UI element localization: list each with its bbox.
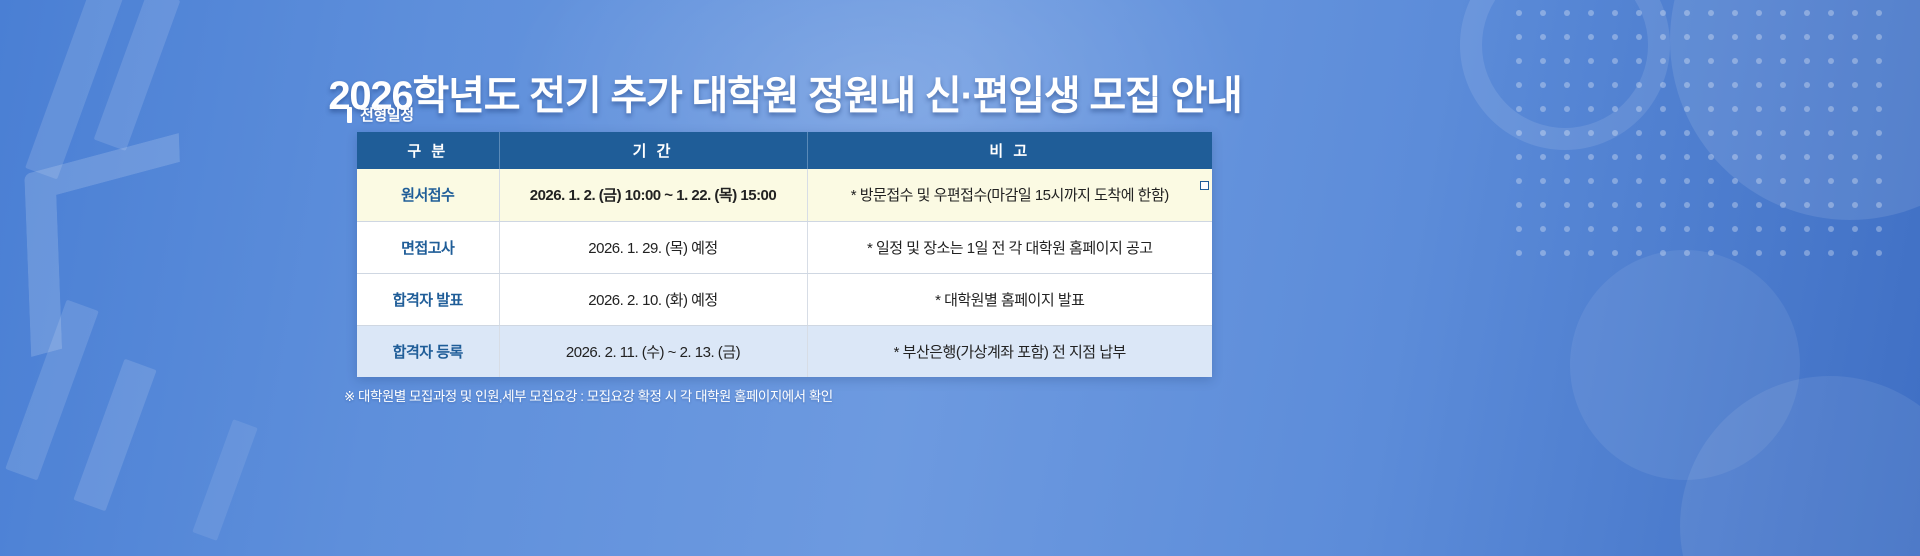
column-header-division: 구 분 (357, 132, 499, 169)
column-header-period: 기 간 (499, 132, 807, 169)
cell-period: 2026. 1. 29. (목) 예정 (499, 221, 807, 273)
table-row: 합격자 등록 2026. 2. 11. (수) ~ 2. 13. (금) * 부… (357, 325, 1212, 377)
schedule-table: 구 분 기 간 비 고 원서접수 2026. 1. 2. (금) 10:00 ~… (357, 132, 1212, 377)
schedule-table-body: 원서접수 2026. 1. 2. (금) 10:00 ~ 1. 22. (목) … (357, 169, 1212, 377)
admission-banner: 2026학년도 전기 추가 대학원 정원내 신·편입생 모집 안내 전형일정 구… (0, 0, 1920, 556)
cell-division: 합격자 등록 (357, 325, 499, 377)
cell-period: 2026. 2. 11. (수) ~ 2. 13. (금) (499, 325, 807, 377)
cell-division: 원서접수 (357, 169, 499, 221)
section-label-text: 전형일정 (360, 104, 414, 125)
footnote: ※ 대학원별 모집과정 및 인원,세부 모집요강 : 모집요강 확정 시 각 대… (344, 385, 833, 405)
table-row: 면접고사 2026. 1. 29. (목) 예정 * 일정 및 장소는 1일 전… (357, 221, 1212, 273)
cell-note: * 대학원별 홈페이지 발표 (807, 273, 1212, 325)
cell-period: 2026. 2. 10. (화) 예정 (499, 273, 807, 325)
table-header-row: 구 분 기 간 비 고 (357, 132, 1212, 169)
schedule-table-head: 구 분 기 간 비 고 (357, 132, 1212, 169)
cell-period: 2026. 1. 2. (금) 10:00 ~ 1. 22. (목) 15:00 (499, 169, 807, 221)
cell-note: * 부산은행(가상계좌 포함) 전 지점 납부 (807, 325, 1212, 377)
section-label: 전형일정 (347, 104, 414, 125)
table-row: 원서접수 2026. 1. 2. (금) 10:00 ~ 1. 22. (목) … (357, 169, 1212, 221)
cell-note: * 일정 및 장소는 1일 전 각 대학원 홈페이지 공고 (807, 221, 1212, 273)
column-header-note: 비 고 (807, 132, 1212, 169)
cell-note: * 방문접수 및 우편접수(마감일 15시까지 도착에 한함) (807, 169, 1212, 221)
square-marker-icon (1200, 181, 1209, 190)
cell-division: 면접고사 (357, 221, 499, 273)
page-title: 2026학년도 전기 추가 대학원 정원내 신·편입생 모집 안내 (0, 63, 1570, 121)
cell-division: 합격자 발표 (357, 273, 499, 325)
banner-content: 2026학년도 전기 추가 대학원 정원내 신·편입생 모집 안내 전형일정 구… (0, 0, 1920, 556)
table-row: 합격자 발표 2026. 2. 10. (화) 예정 * 대학원별 홈페이지 발… (357, 273, 1212, 325)
vertical-bar-icon (347, 107, 352, 123)
